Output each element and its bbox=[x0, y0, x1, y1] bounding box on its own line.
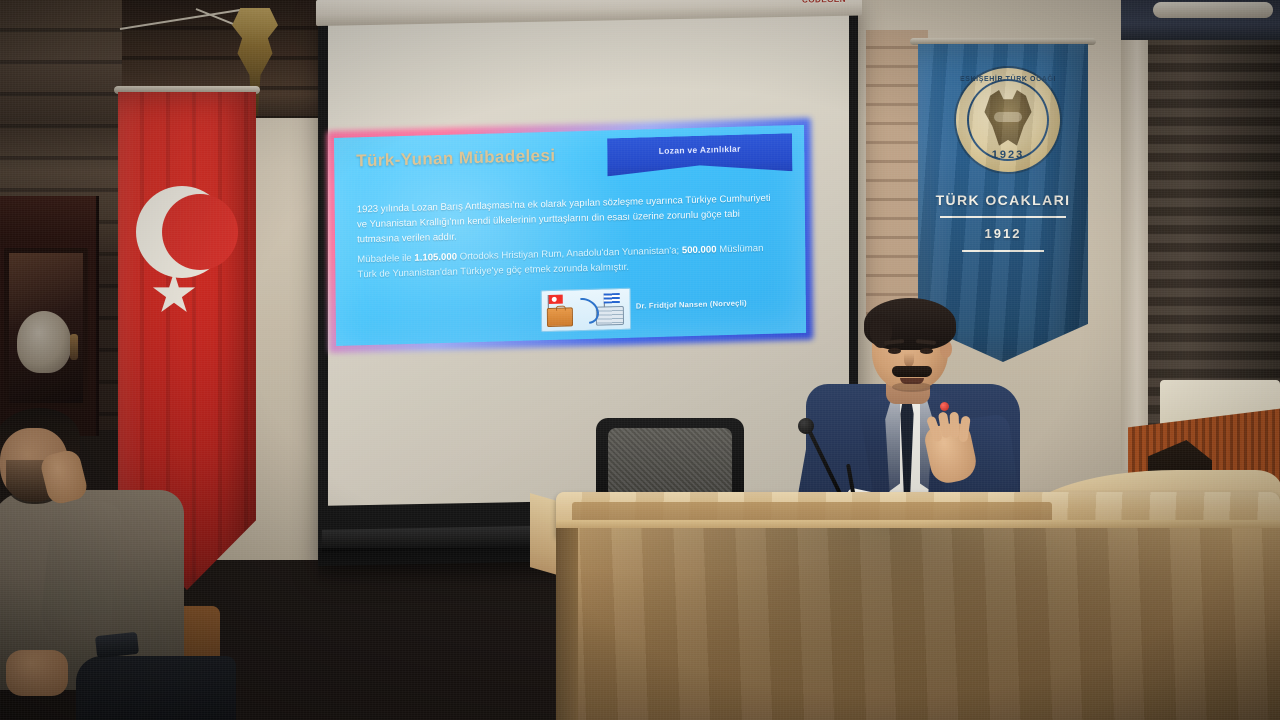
seal-inner-ring bbox=[967, 79, 1049, 161]
speaker-nose bbox=[904, 353, 914, 367]
founding-year: 1912 bbox=[918, 226, 1088, 241]
eskisehir-turk-ocagi-seal: ESKİŞEHİR TÜRK OCAĞI 1923 bbox=[954, 66, 1062, 174]
crescent-icon bbox=[136, 186, 228, 278]
seal-year: 1923 bbox=[956, 149, 1060, 161]
greek-flag-icon bbox=[604, 293, 620, 303]
slide-paragraph-1: 1923 yılında Lozan Barış Antlaşması'na e… bbox=[357, 191, 777, 248]
seal-top-text: ESKİŞEHİR TÜRK OCAĞI bbox=[956, 76, 1060, 83]
speaker-hair bbox=[864, 298, 956, 350]
microphone-capsule-icon bbox=[798, 418, 814, 434]
banner-divider-bottom bbox=[962, 250, 1044, 252]
audience-member bbox=[0, 404, 228, 720]
speaker-chin-shadow bbox=[892, 382, 932, 392]
display-cabinet bbox=[0, 196, 99, 436]
slide-title: Türk-Yunan Mübadelesi bbox=[356, 146, 555, 172]
audience-phone bbox=[95, 632, 139, 658]
slide-paragraph-2: Mübadele ile 1.105.000 Ortodoks Hristiya… bbox=[357, 241, 767, 283]
chair-mesh-backrest bbox=[608, 428, 732, 496]
podium-leg bbox=[556, 528, 578, 720]
slide-surface: Türk-Yunan Mübadelesi Lozan ve Azınlıkla… bbox=[334, 125, 806, 346]
turkish-flag-icon bbox=[549, 295, 563, 304]
audience-trousers bbox=[76, 656, 236, 720]
podium-front-panel bbox=[556, 528, 1280, 720]
suitcase-icon bbox=[547, 307, 573, 327]
figure-muslim: 500.000 bbox=[682, 244, 717, 256]
banner-divider-top bbox=[940, 216, 1066, 218]
organization-name: TÜRK OCAKLARI bbox=[918, 192, 1088, 208]
slide-topic-badge: Lozan ve Azınlıklar bbox=[607, 133, 792, 176]
speaker-mustache bbox=[892, 366, 932, 377]
audience-lower-hand bbox=[6, 650, 68, 696]
banner-rod bbox=[910, 38, 1096, 45]
figure-orthodox: 1.105.000 bbox=[414, 252, 457, 264]
slide-credit: Dr. Fridtjof Nansen (Norveçli) bbox=[636, 298, 747, 310]
speaker-eye-left bbox=[888, 348, 901, 354]
stacked-books-icon bbox=[596, 306, 624, 326]
speaker-finger bbox=[950, 412, 960, 438]
audience-arm bbox=[39, 497, 123, 644]
p2-prefix: Mübadele ile bbox=[357, 253, 414, 266]
grey-wolf-head-icon bbox=[980, 90, 1036, 148]
ceiling-light bbox=[1153, 2, 1273, 18]
population-exchange-icon bbox=[541, 288, 631, 333]
projector-brand-label: CODEGEN bbox=[802, 0, 846, 5]
cabinet-glass-door bbox=[4, 248, 88, 408]
slide-topic-badge-label: Lozan ve Azınlıklar bbox=[659, 144, 741, 156]
red-lapel-pin-icon bbox=[940, 402, 949, 411]
p2-mid: Ortodoks Hristiyan Rum, Anadolu'dan Yuna… bbox=[457, 245, 682, 262]
presentation-photo-scene: CODEGEN Türk-Yunan Mübadelesi Lozan ve A… bbox=[0, 0, 1280, 720]
speaker-eye-right bbox=[920, 348, 933, 354]
cabinet-key-icon bbox=[70, 334, 78, 360]
projected-slide: Türk-Yunan Mübadelesi Lozan ve Azınlıkla… bbox=[334, 125, 806, 346]
